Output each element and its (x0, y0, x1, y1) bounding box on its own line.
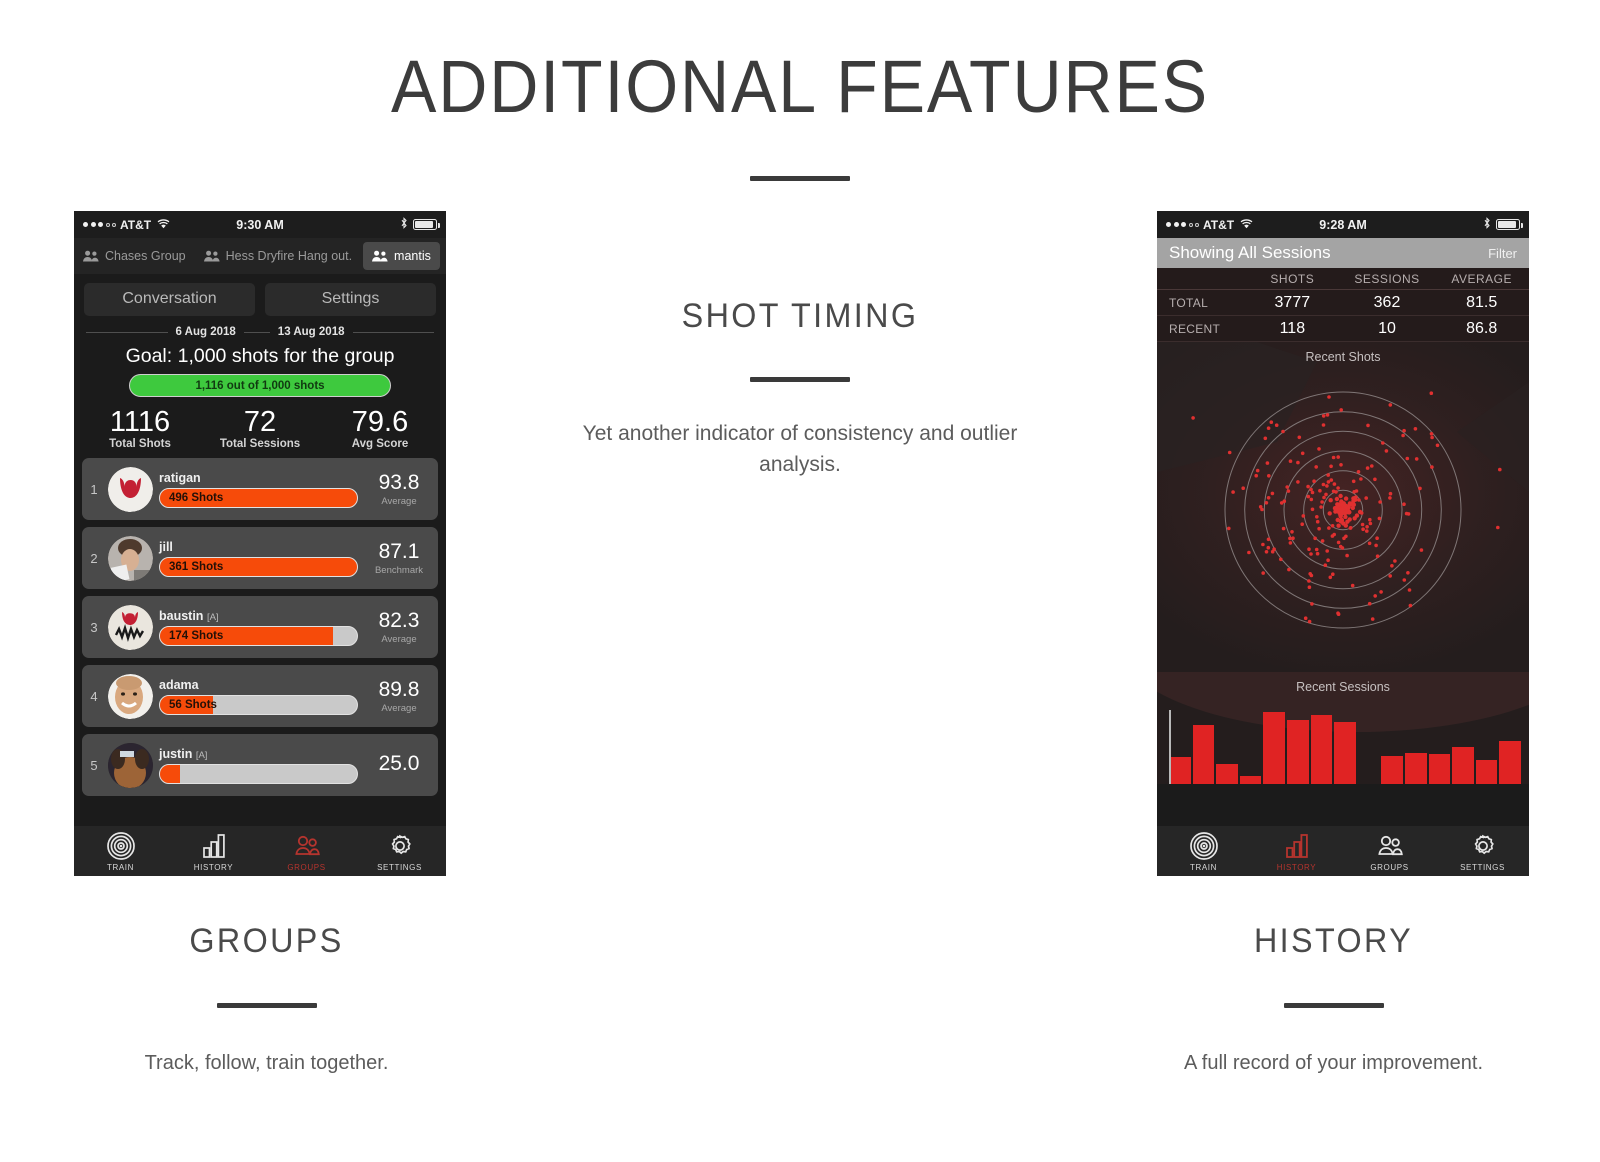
group-tab-label: Hess Dryfire Hang out. (226, 249, 352, 263)
history-status-bar: AT&T 9:28 AM (1157, 211, 1529, 238)
tab-label: GROUPS (1370, 863, 1408, 872)
avatar (108, 536, 153, 581)
row-main: justin [A] (159, 747, 362, 784)
bar (1452, 747, 1474, 784)
divider-right (353, 332, 435, 333)
group-tab-label: mantis (394, 249, 431, 263)
target-scatter-svg (1157, 342, 1529, 672)
alpha-badge: [A] (196, 750, 208, 761)
session-marker-line (1169, 710, 1171, 784)
groups-caption-body: Track, follow, train together. (0, 1048, 533, 1078)
cell-average: 86.8 (1434, 320, 1529, 338)
bar (1381, 756, 1403, 784)
name-text: justin (159, 747, 192, 761)
bar (1476, 760, 1498, 784)
tab-train[interactable]: TRAIN (74, 831, 167, 872)
tab-label: SETTINGS (1460, 863, 1505, 872)
player-name: adama (159, 678, 358, 692)
recent-shots-chart: Recent Shots (1157, 342, 1529, 672)
cell-shots: 3777 (1245, 294, 1340, 312)
goal-progress-bar: 1,116 out of 1,000 shots (129, 374, 391, 397)
gear-icon (385, 831, 415, 861)
rank: 5 (86, 758, 102, 773)
wifi-icon (157, 218, 170, 232)
settings-button[interactable]: Settings (265, 283, 436, 316)
date-range-start: 6 Aug 2018 (176, 326, 236, 338)
people-icon (83, 250, 100, 262)
segmented-control[interactable]: Conversation Settings (74, 274, 446, 322)
bar (1499, 741, 1521, 784)
rank: 3 (86, 620, 102, 635)
stat-label: Avg Score (320, 438, 440, 450)
groups-caption-divider (217, 1003, 317, 1008)
list-item[interactable]: 4 adama 56 Shots 89.8 Average (82, 665, 438, 727)
shots-label: 361 Shots (169, 558, 223, 576)
groups-tabbar[interactable]: TRAIN HISTORY GROUPS SETTINGS (74, 826, 446, 876)
history-phone-screenshot: AT&T 9:28 AM Showing All Sessions Filter… (1157, 211, 1529, 876)
divider-left (86, 332, 168, 333)
score-value: 82.3 (368, 610, 430, 631)
session-bars (1169, 706, 1521, 784)
stat-label: Total Sessions (200, 438, 320, 450)
row-main: adama 56 Shots (159, 678, 362, 715)
player-name: justin [A] (159, 747, 358, 761)
groups-caption-title: GROUPS (13, 922, 519, 961)
status-right (1483, 217, 1520, 232)
history-caption-body: A full record of your improvement. (1067, 1048, 1600, 1078)
tab-train[interactable]: TRAIN (1157, 831, 1250, 872)
rank: 4 (86, 689, 102, 704)
tab-history[interactable]: HISTORY (167, 831, 260, 872)
signal-strength-icon (83, 222, 116, 227)
slide-root: ADDITIONAL FEATURES AT&T 9:30 AM (0, 0, 1600, 1162)
shot-timing-divider (750, 377, 850, 382)
score-caption: Average (368, 634, 430, 645)
bar (1216, 764, 1238, 784)
player-name: ratigan (159, 471, 358, 485)
status-left: AT&T (1166, 218, 1253, 232)
col-header-average: AVERAGE (1434, 272, 1529, 286)
recent-shots-label: Recent Shots (1157, 350, 1529, 364)
shots-progress-bar: 496 Shots (159, 488, 358, 508)
people-icon (204, 250, 221, 262)
people-icon (292, 831, 322, 861)
shots-progress-bar: 361 Shots (159, 557, 358, 577)
gear-icon (1468, 831, 1498, 861)
row-score: 82.3 Average (368, 610, 430, 645)
row-label: RECENT (1157, 322, 1245, 336)
filter-button[interactable]: Filter (1488, 246, 1517, 261)
goal-progress-label: 1,116 out of 1,000 shots (195, 380, 324, 392)
people-icon (1375, 831, 1405, 861)
list-item[interactable]: 5 justin [A] 25.0 (82, 734, 438, 796)
bar (1193, 725, 1215, 784)
shots-label: 496 Shots (169, 489, 223, 507)
group-tab-hess[interactable]: Hess Dryfire Hang out. (195, 241, 361, 271)
bars-icon (1282, 831, 1312, 861)
bluetooth-icon (1483, 217, 1491, 232)
bluetooth-icon (400, 217, 408, 232)
wifi-icon (1240, 218, 1253, 232)
avatar (108, 743, 153, 788)
rank: 2 (86, 551, 102, 566)
tab-label: TRAIN (1190, 863, 1217, 872)
date-range-end: 13 Aug 2018 (278, 326, 345, 338)
target-icon (106, 831, 136, 861)
goal-progress-wrap: 1,116 out of 1,000 shots (74, 374, 446, 403)
avatar (108, 467, 153, 512)
name-text: ratigan (159, 471, 201, 485)
list-item[interactable]: 3 baustin [A] 174 Shots 82.3 Average (82, 596, 438, 658)
history-caption-divider (1284, 1003, 1384, 1008)
table-row: RECENT 118 10 86.8 (1157, 316, 1529, 342)
shots-label: 174 Shots (169, 627, 223, 645)
bar (1240, 776, 1262, 784)
bar (1169, 757, 1191, 784)
bar (1311, 715, 1333, 784)
shot-timing-title: SHOT TIMING (546, 297, 1053, 336)
score-caption: Average (368, 703, 430, 714)
history-caption-title: HISTORY (1080, 922, 1586, 961)
progress-fill (160, 765, 180, 783)
name-text: baustin (159, 609, 203, 623)
divider-mid (244, 332, 270, 333)
groups-phone-screenshot: AT&T 9:30 AM Chases Group Hess Dryf (74, 211, 446, 876)
bar (1334, 722, 1356, 784)
tab-groups[interactable]: GROUPS (260, 831, 353, 872)
battery-icon (413, 219, 437, 230)
date-range-row: 6 Aug 2018 13 Aug 2018 (74, 322, 446, 340)
alpha-badge: [A] (207, 612, 219, 623)
score-value: 89.8 (368, 679, 430, 700)
people-icon (372, 250, 389, 262)
table-row: TOTAL 3777 362 81.5 (1157, 290, 1529, 316)
tab-label: TRAIN (107, 863, 134, 872)
score-caption: Benchmark (368, 565, 430, 576)
bar (1263, 712, 1285, 784)
tab-label: HISTORY (194, 863, 233, 872)
table-header-row: SHOTS SESSIONS AVERAGE (1157, 268, 1529, 290)
tab-settings[interactable]: SETTINGS (353, 831, 446, 872)
row-label: TOTAL (1157, 296, 1245, 310)
rank: 1 (86, 482, 102, 497)
bars-icon (199, 831, 229, 861)
status-right (400, 217, 437, 232)
shots-label: 56 Shots (169, 696, 217, 714)
signal-strength-icon (1166, 222, 1199, 227)
history-nav-title: Showing All Sessions (1169, 243, 1331, 263)
player-name: baustin [A] (159, 609, 358, 623)
bar (1287, 720, 1309, 784)
title-divider (750, 176, 850, 181)
stat-avg-score: 79.6 Avg Score (320, 407, 440, 450)
shots-progress-bar (159, 764, 358, 784)
avatar (108, 674, 153, 719)
history-summary-table: SHOTS SESSIONS AVERAGE TOTAL 3777 362 81… (1157, 268, 1529, 342)
goal-title: Goal: 1,000 shots for the group (74, 340, 446, 374)
cell-average: 81.5 (1434, 294, 1529, 312)
tab-groups[interactable]: GROUPS (1343, 831, 1436, 872)
page-title: ADDITIONAL FEATURES (64, 44, 1536, 129)
score-value: 93.8 (368, 472, 430, 493)
carrier-label: AT&T (1203, 218, 1234, 232)
row-score: 93.8 Average (368, 472, 430, 507)
leaderboard-list[interactable]: 1 ratigan 496 Shots 93.8 Average 2 (74, 458, 446, 796)
stat-value: 1116 (80, 407, 200, 437)
battery-icon (1496, 219, 1520, 230)
conversation-button[interactable]: Conversation (84, 283, 255, 316)
tab-label: HISTORY (1277, 863, 1316, 872)
carrier-label: AT&T (120, 218, 151, 232)
list-item[interactable]: 2 jill 361 Shots 87.1 Benchmark (82, 527, 438, 589)
history-navbar[interactable]: Showing All Sessions Filter (1157, 238, 1529, 268)
cell-sessions: 362 (1340, 294, 1435, 312)
group-stats-row: 1116 Total Shots 72 Total Sessions 79.6 … (74, 403, 446, 458)
tab-settings[interactable]: SETTINGS (1436, 831, 1529, 872)
tab-label: SETTINGS (377, 863, 422, 872)
target-icon (1189, 831, 1219, 861)
score-value: 25.0 (368, 753, 430, 774)
stat-total-shots: 1116 Total Shots (80, 407, 200, 450)
list-item[interactable]: 1 ratigan 496 Shots 93.8 Average (82, 458, 438, 520)
recent-sessions-chart: Recent Sessions (1157, 672, 1529, 784)
player-name: jill (159, 540, 358, 554)
recent-sessions-label: Recent Sessions (1157, 680, 1529, 694)
col-header-sessions: SESSIONS (1340, 272, 1435, 286)
group-tab-strip[interactable]: Chases Group Hess Dryfire Hang out. mant… (74, 238, 446, 274)
status-left: AT&T (83, 218, 170, 232)
shots-progress-bar: 56 Shots (159, 695, 358, 715)
bar (1429, 754, 1451, 784)
name-text: adama (159, 678, 199, 692)
tab-history[interactable]: HISTORY (1250, 831, 1343, 872)
group-tab-mantis[interactable]: mantis (363, 242, 440, 270)
row-score: 25.0 (368, 753, 430, 777)
history-tabbar[interactable]: TRAIN HISTORY GROUPS SETTINGS (1157, 826, 1529, 876)
row-score: 89.8 Average (368, 679, 430, 714)
stat-value: 79.6 (320, 407, 440, 437)
col-header-shots: SHOTS (1245, 272, 1340, 286)
group-tab-label: Chases Group (105, 249, 186, 263)
cell-shots: 118 (1245, 320, 1340, 338)
stat-total-sessions: 72 Total Sessions (200, 407, 320, 450)
avatar (108, 605, 153, 650)
shots-progress-bar: 174 Shots (159, 626, 358, 646)
score-value: 87.1 (368, 541, 430, 562)
bar (1405, 753, 1427, 784)
tab-label: GROUPS (287, 863, 325, 872)
row-main: baustin [A] 174 Shots (159, 609, 362, 646)
row-score: 87.1 Benchmark (368, 541, 430, 576)
stat-value: 72 (200, 407, 320, 437)
row-main: ratigan 496 Shots (159, 471, 362, 508)
cell-sessions: 10 (1340, 320, 1435, 338)
stat-label: Total Shots (80, 438, 200, 450)
group-tab-chases[interactable]: Chases Group (74, 241, 195, 271)
score-caption: Average (368, 496, 430, 507)
name-text: jill (159, 540, 173, 554)
shot-timing-body: Yet another indicator of consistency and… (569, 418, 1031, 480)
groups-status-bar: AT&T 9:30 AM (74, 211, 446, 238)
row-main: jill 361 Shots (159, 540, 362, 577)
